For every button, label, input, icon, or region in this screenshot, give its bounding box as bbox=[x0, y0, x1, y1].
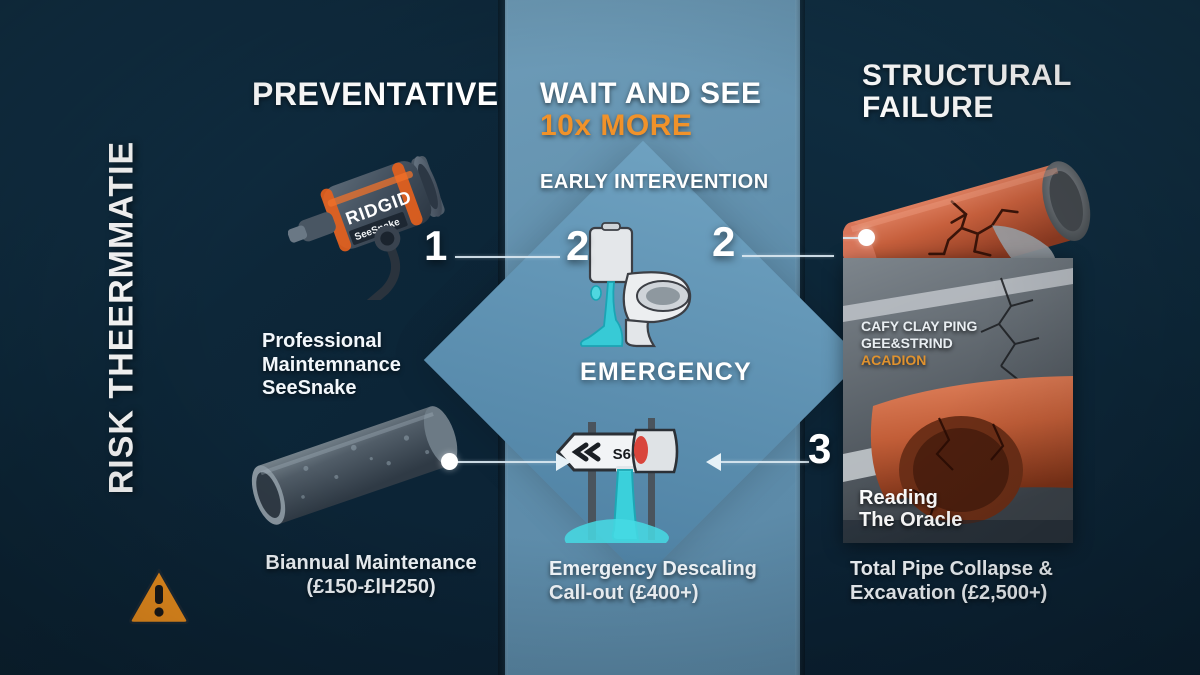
header-early-intervention: EARLY INTERVENTION bbox=[540, 172, 769, 193]
overlay-text-line-3: ACADION bbox=[861, 352, 926, 370]
header-10x-more: 10x MORE bbox=[540, 110, 692, 142]
arrow-right-icon bbox=[556, 453, 571, 471]
header-structural-failure: STRUCTURAL FAILURE bbox=[862, 60, 1162, 124]
caption-line-2: Call-out (£400+) bbox=[549, 582, 757, 606]
caption-line-1: Total Pipe Collapse & bbox=[850, 558, 1053, 582]
caption-total-pipe-collapse: Total Pipe Collapse & Excavation (£2,500… bbox=[850, 558, 1053, 605]
caption-line-2: (£150-£ⅠH250) bbox=[246, 576, 496, 600]
marker-number-3: 3 bbox=[808, 425, 831, 473]
header-line-1: STRUCTURAL bbox=[862, 60, 1162, 92]
caption-biannual-maintenance: Biannual Maintenance (£150-£ⅠH250) bbox=[246, 552, 496, 599]
photo-card-clay-pipe-failure: CAFY CLAY PING GEE&STRIND ACADION Readin… bbox=[843, 258, 1073, 543]
caption-professional-maintenance: Professional Maintemnance SeeSnake bbox=[262, 330, 401, 401]
caption-line-2: Maintemnance bbox=[262, 354, 401, 378]
caption-line-3: SeeSnake bbox=[262, 377, 401, 401]
caption-line-1: Professional bbox=[262, 330, 401, 354]
vertical-risk-title: RISK THEERMMATIE bbox=[103, 108, 142, 528]
caption-line-1: Biannual Maintenance bbox=[246, 552, 496, 576]
connector-dot-right bbox=[858, 229, 875, 246]
caption-emergency-descaling: Emergency Descaling Call-out (£400+) bbox=[549, 558, 757, 605]
marker-number-2-left: 2 bbox=[566, 222, 589, 270]
connector-dot-left bbox=[441, 453, 458, 470]
flooded-road-signs-icon: S66 bbox=[556, 408, 726, 543]
grey-drain-pipe-icon bbox=[238, 405, 468, 530]
overlay-text-line-1: CAFY CLAY PING bbox=[861, 318, 977, 336]
connector-line-2 bbox=[742, 255, 834, 257]
infographic-canvas: PREVENTATIVE RIDGID SeeSnake bbox=[0, 0, 1200, 675]
caption-line-1: Emergency Descaling bbox=[549, 558, 757, 582]
marker-number-1: 1 bbox=[424, 222, 447, 270]
connector-line-5 bbox=[721, 461, 809, 463]
arrow-left-icon bbox=[706, 453, 721, 471]
label-emergency: EMERGENCY bbox=[580, 358, 752, 387]
marker-number-2-right: 2 bbox=[712, 218, 735, 266]
connector-line-1 bbox=[455, 256, 560, 258]
overlay-text-line-2: GEE&STRIND bbox=[861, 335, 953, 353]
header-wait-and-see: WAIT AND SEE bbox=[540, 78, 762, 110]
header-preventative: PREVENTATIVE bbox=[252, 78, 499, 112]
overlay-title-line-2: The Oracle bbox=[859, 508, 962, 533]
caption-line-2: Excavation (£2,500+) bbox=[850, 582, 1053, 606]
leaking-toilet-icon bbox=[568, 222, 718, 352]
connector-line-4 bbox=[448, 461, 556, 463]
header-line-2: FAILURE bbox=[862, 92, 1162, 124]
warning-triangle-icon bbox=[128, 567, 190, 625]
ridgid-seesnake-camera-icon: RIDGID SeeSnake bbox=[288, 135, 488, 300]
